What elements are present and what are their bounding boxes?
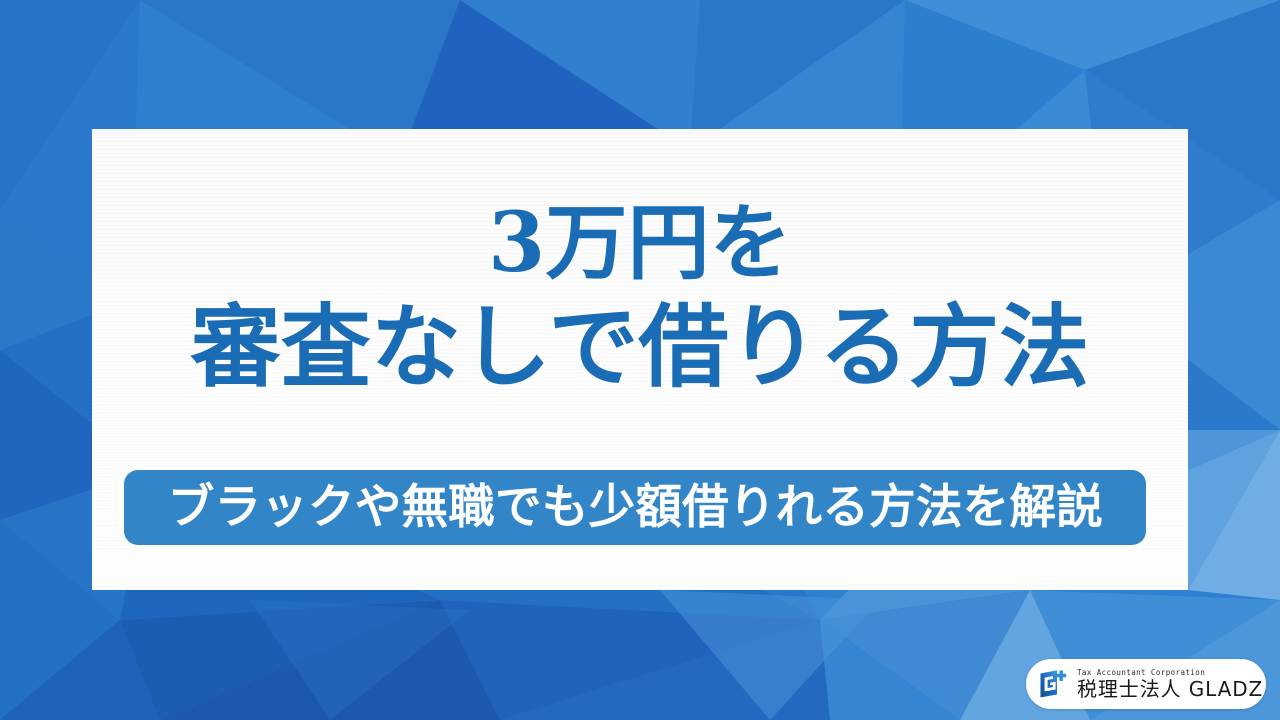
logo-text-block: Tax Accountant Corporation 税理士法人 GLADZ: [1077, 669, 1263, 700]
logo-badge: Tax Accountant Corporation 税理士法人 GLADZ: [1026, 659, 1266, 709]
page-title-line-2: 審査なしで借りる方法: [191, 296, 1090, 399]
page-title-line-1: 3万円を: [191, 197, 1090, 290]
g-plus-logo-icon: [1036, 668, 1070, 700]
logo-company-name: 税理士法人 GLADZ: [1077, 679, 1263, 699]
subtitle-banner: ブラックや無職でも少額借りれる方法を解説: [124, 470, 1146, 545]
logo-tagline: Tax Accountant Corporation: [1077, 669, 1263, 677]
thumbnail-canvas: 3万円を 審査なしで借りる方法 ブラックや無職でも少額借りれる方法を解説: [0, 0, 1280, 720]
page-title: 3万円を 審査なしで借りる方法: [191, 197, 1090, 399]
content-card: 3万円を 審査なしで借りる方法 ブラックや無職でも少額借りれる方法を解説: [92, 129, 1188, 590]
subtitle-text: ブラックや無職でも少額借りれる方法を解説: [167, 484, 1102, 531]
